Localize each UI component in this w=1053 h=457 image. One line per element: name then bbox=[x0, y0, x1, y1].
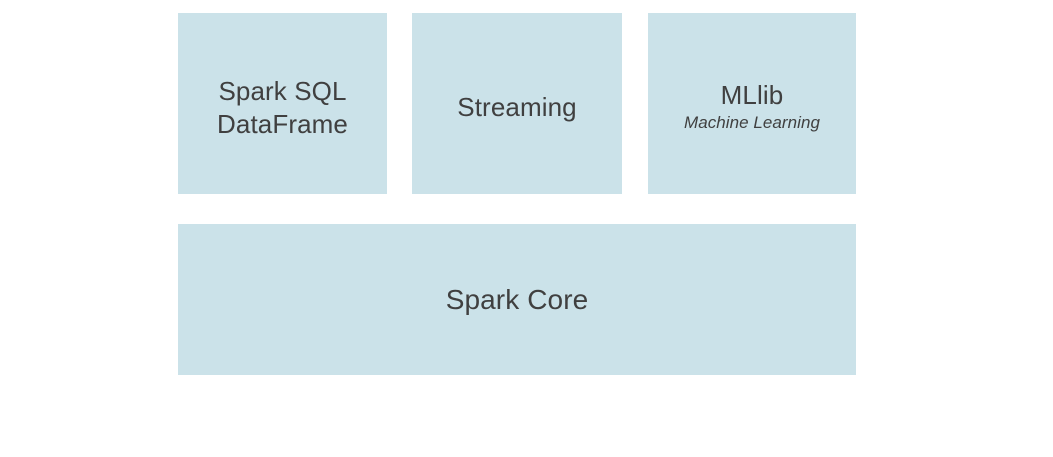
diagram-box-spark-core[interactable]: Spark Core bbox=[178, 224, 856, 375]
diagram-box-mllib[interactable]: MLlib Machine Learning bbox=[648, 13, 856, 194]
diagram-box-mllib-title: MLlib bbox=[721, 79, 784, 112]
diagram-box-spark-sql-title: Spark SQL DataFrame bbox=[217, 75, 348, 141]
diagram-box-streaming-title: Streaming bbox=[457, 91, 576, 124]
diagram-box-mllib-subtitle: Machine Learning bbox=[684, 112, 820, 134]
diagram-box-spark-sql[interactable]: Spark SQL DataFrame bbox=[178, 13, 387, 194]
diagram-box-spark-core-title: Spark Core bbox=[446, 283, 589, 317]
diagram-box-streaming[interactable]: Streaming bbox=[412, 13, 622, 194]
spark-stack-diagram: Spark SQL DataFrame Streaming MLlib Mach… bbox=[0, 0, 1053, 457]
